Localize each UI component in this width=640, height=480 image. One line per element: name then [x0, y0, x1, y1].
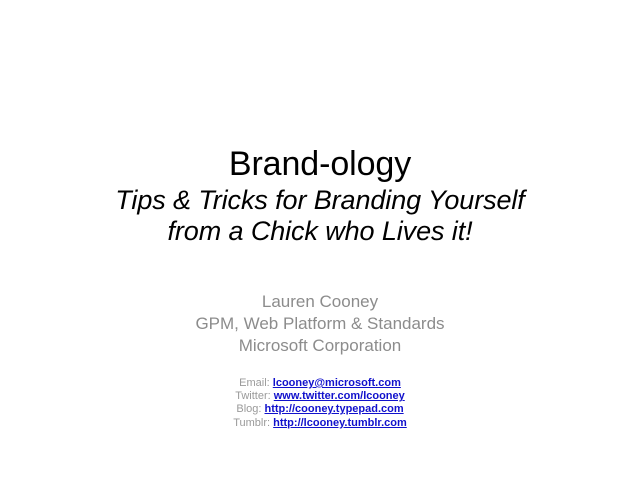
contact-link-tumblr[interactable]: http://lcooney.tumblr.com	[273, 417, 407, 429]
contact-row-blog: Blog: http://cooney.typepad.com	[0, 403, 640, 416]
contact-link-blog[interactable]: http://cooney.typepad.com	[265, 403, 404, 415]
author-name: Lauren Cooney	[0, 291, 640, 313]
presentation-title-slide: Brand-ology Tips & Tricks for Branding Y…	[0, 0, 640, 480]
contact-label-tumblr: Tumblr:	[233, 417, 270, 429]
contact-row-email: Email: lcooney@microsoft.com	[0, 377, 640, 390]
author-block: Lauren Cooney GPM, Web Platform & Standa…	[0, 291, 640, 357]
slide-title: Brand-ology	[0, 143, 640, 185]
author-company: Microsoft Corporation	[0, 335, 640, 357]
title-block: Brand-ology Tips & Tricks for Branding Y…	[0, 143, 640, 247]
slide-subtitle-line-1: Tips & Tricks for Branding Yourself	[0, 185, 640, 216]
contact-link-email[interactable]: lcooney@microsoft.com	[273, 377, 401, 389]
contact-block: Email: lcooney@microsoft.com Twitter: ww…	[0, 377, 640, 430]
author-role: GPM, Web Platform & Standards	[0, 313, 640, 335]
contact-link-twitter[interactable]: www.twitter.com/lcooney	[274, 390, 405, 402]
contact-row-twitter: Twitter: www.twitter.com/lcooney	[0, 390, 640, 403]
contact-label-twitter: Twitter:	[235, 390, 270, 402]
contact-label-blog: Blog:	[236, 403, 261, 415]
contact-label-email: Email:	[239, 377, 270, 389]
slide-subtitle-line-2: from a Chick who Lives it!	[0, 216, 640, 247]
contact-row-tumblr: Tumblr: http://lcooney.tumblr.com	[0, 417, 640, 430]
